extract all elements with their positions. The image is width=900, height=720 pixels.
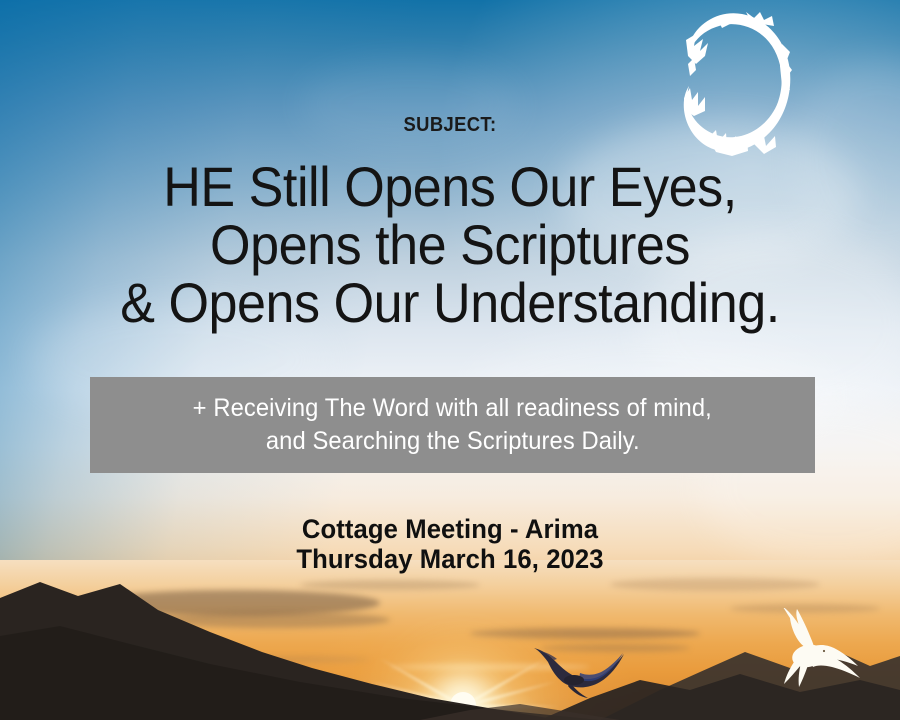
headline-line-2: Opens the Scriptures bbox=[32, 216, 869, 274]
brush-ring-mark-icon bbox=[672, 6, 804, 168]
banner-line-2: and Searching the Scriptures Daily. bbox=[266, 425, 640, 458]
headline-block: HE Still Opens Our Eyes, Opens the Scrip… bbox=[0, 158, 900, 332]
banner-line-1: + Receiving The Word with all readiness … bbox=[193, 392, 712, 425]
subtitle-banner: + Receiving The Word with all readiness … bbox=[90, 377, 815, 473]
subject-label: SUBJECT: bbox=[36, 114, 864, 137]
poster-canvas: SUBJECT: HE Still Opens Our Eyes, Opens … bbox=[0, 0, 900, 720]
headline-line-3: & Opens Our Understanding. bbox=[32, 274, 869, 332]
meeting-info-block: Cottage Meeting - Arima Thursday March 1… bbox=[0, 514, 900, 574]
eagle-icon bbox=[530, 640, 630, 706]
headline-line-1: HE Still Opens Our Eyes, bbox=[32, 158, 869, 216]
meeting-title: Cottage Meeting - Arima bbox=[23, 514, 878, 544]
dove-icon bbox=[768, 608, 868, 694]
meeting-date: Thursday March 16, 2023 bbox=[23, 544, 878, 574]
